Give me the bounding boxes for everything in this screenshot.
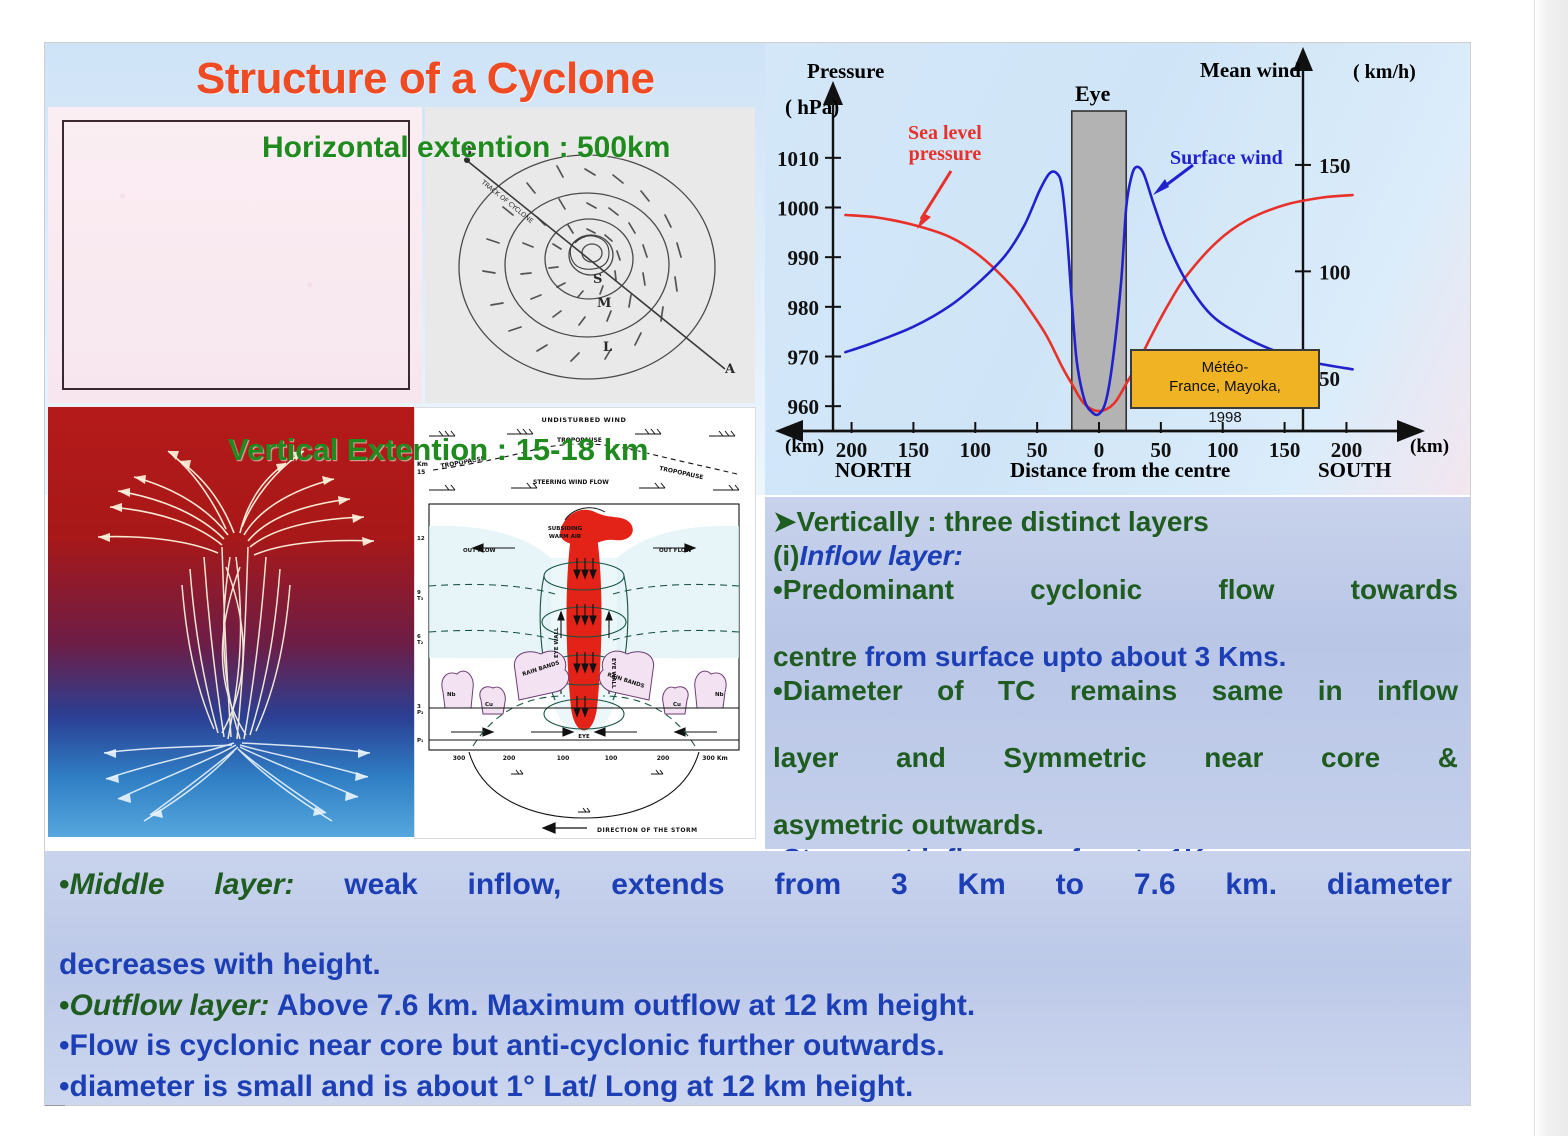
text-segment: decreases with height.	[59, 948, 381, 981]
x-axis-tick-label: 100	[960, 438, 992, 462]
svg-text:100: 100	[557, 755, 570, 762]
x-axis-unit-left: (km)	[785, 436, 824, 458]
annotation-line2: pressure	[908, 144, 982, 165]
text-line: decreases with height.	[59, 945, 1452, 985]
svg-text:EYE WALL: EYE WALL	[554, 627, 560, 658]
svg-text:S: S	[593, 272, 602, 287]
left-axis-tick-label: 960	[788, 395, 820, 419]
slide-canvas: PURIHYDERABAD MACHILIPATNAMBLAIR MadrasB…	[0, 0, 1568, 1136]
svg-text:200: 200	[503, 755, 516, 762]
text-segment: •	[59, 989, 70, 1022]
text-segment: Inflow layer:	[799, 540, 962, 571]
svg-text:Cu: Cu	[673, 702, 681, 708]
panel-edge-line	[1534, 0, 1535, 1136]
surface-wind-annotation: Surface wind	[1170, 147, 1283, 170]
svg-text:L: L	[603, 340, 612, 355]
text-segment: Vertically : three distinct layers	[796, 506, 1208, 537]
text-line: •Flow is cyclonic near core but anti-cyc…	[59, 1026, 1452, 1066]
text-segment: Above 7.6 km. Maximum outflow at 12 km h…	[270, 989, 976, 1022]
text-line: •Middle layer: weak inflow, extends from…	[59, 865, 1452, 944]
svg-text:EYE: EYE	[578, 734, 590, 740]
left-axis-tick-label: 980	[788, 296, 820, 320]
chart-left-axis-title: Pressure	[807, 59, 884, 84]
chart-left-axis-unit: ( hPa)	[785, 95, 839, 120]
svg-text:SUBSIDING: SUBSIDING	[548, 526, 583, 532]
eye-label: Eye	[1075, 81, 1110, 107]
text-segment: weak inflow, extends from 3 Km to 7.6 km…	[294, 868, 1452, 901]
svg-text:P₁: P₁	[417, 738, 424, 744]
left-axis-tick-label: 1000	[777, 197, 819, 221]
text-line: •diameter is small and is about 1° Lat/ …	[59, 1067, 1452, 1107]
text-line: centre from surface upto about 3 Kms.	[773, 640, 1458, 673]
text-segment: Outflow layer:	[70, 989, 270, 1022]
chart-plot-area: 1010100099098097096015010050200150100500…	[765, 43, 1470, 495]
page-title: Structure of a Cyclone	[196, 54, 796, 104]
source-line-3: 1998	[1130, 409, 1320, 426]
sea-level-pressure-annotation: Sea levelpressure	[908, 123, 982, 165]
svg-text:DIRECTION OF THE STORM: DIRECTION OF THE STORM	[597, 827, 698, 834]
text-segment: •Predominant cyclonic flow towards	[773, 574, 1458, 605]
svg-text:Nb: Nb	[447, 692, 456, 698]
svg-text:WARM AIR: WARM AIR	[549, 534, 582, 540]
text-line: layer and Symmetric near core &	[773, 741, 1458, 807]
text-segment: •Diameter of TC remains same in inflow	[773, 675, 1458, 706]
middle-outflow-layer-text-block: •Middle layer: weak inflow, extends from…	[45, 851, 1470, 1105]
chart-right-axis-unit: ( km/h)	[1353, 61, 1416, 84]
svg-text:EYE WALL: EYE WALL	[610, 658, 616, 689]
panel-edge-strip	[1534, 0, 1568, 1136]
x-axis-side-south: SOUTH	[1318, 458, 1392, 483]
text-segment: •	[59, 868, 70, 901]
svg-text:UNDISTURBED WIND: UNDISTURBED WIND	[541, 416, 626, 424]
x-axis-tick-label: 150	[1269, 438, 1301, 462]
source-box: Météo- France, Mayoka,	[1130, 349, 1320, 409]
svg-text:12: 12	[417, 536, 425, 542]
left-axis-tick-label: 1010	[777, 147, 819, 171]
text-segment: ➤	[773, 506, 796, 537]
sea-level-pressure-arrow	[921, 171, 951, 219]
inflow-layer-text-block: ➤Vertically : three distinct layers(i)In…	[765, 497, 1470, 849]
annotation-line1: Sea level	[908, 123, 982, 144]
svg-text:T₂: T₂	[417, 640, 424, 646]
svg-text:Cu: Cu	[485, 702, 493, 708]
svg-text:P₂: P₂	[417, 710, 424, 716]
text-segment: layer and Symmetric near core &	[773, 742, 1458, 773]
text-segment: from surface upto about 3 Kms.	[865, 641, 1287, 672]
svg-text:15: 15	[417, 469, 425, 476]
cyclone-3d-airflow-render	[48, 407, 414, 837]
text-line: asymetric outwards.	[773, 808, 1458, 841]
x-axis-unit-right: (km)	[1410, 436, 1449, 458]
text-line: ➤Vertically : three distinct layers	[773, 505, 1458, 538]
cross-section-artwork: UNDISTURBED WIND TROPOPAUSE TROPOPAUSE T…	[415, 408, 753, 836]
svg-text:Nb: Nb	[715, 692, 724, 698]
left-axis-tick-label: 970	[788, 346, 820, 370]
pressure-wind-chart: 1010100099098097096015010050200150100500…	[765, 43, 1470, 495]
text-segment: asymetric outwards.	[773, 809, 1044, 840]
caption-vertical-extention: Vertical Extention : 15-18 km	[228, 432, 648, 468]
svg-text:200: 200	[657, 755, 670, 762]
svg-text:M: M	[597, 296, 611, 311]
svg-text:OUT FLOW: OUT FLOW	[463, 548, 496, 554]
text-segment: Middle layer:	[70, 868, 295, 901]
text-segment: •diameter is small and is about 1° Lat/ …	[59, 1070, 913, 1103]
svg-text:OUT FLOW: OUT FLOW	[659, 548, 692, 554]
caption-horizontal-extention: Horizontal extention : 500km	[262, 131, 670, 165]
svg-text:T₃: T₃	[417, 596, 424, 602]
x-axis-title: Distance from the centre	[1010, 458, 1230, 483]
x-axis-side-north: NORTH	[835, 458, 911, 483]
text-line: (i)Inflow layer:	[773, 539, 1458, 572]
svg-text:STEERING WIND FLOW: STEERING WIND FLOW	[533, 479, 609, 486]
text-line: •Predominant cyclonic flow towards	[773, 573, 1458, 639]
svg-text:300 Km: 300 Km	[702, 755, 728, 762]
text-segment: •Flow is cyclonic near core but anti-cyc…	[59, 1029, 945, 1062]
text-segment: (i)	[773, 540, 799, 571]
svg-text:100: 100	[605, 755, 618, 762]
text-line: •Diameter of TC remains same in inflow	[773, 674, 1458, 740]
svg-text:A: A	[724, 362, 736, 377]
text-segment: centre	[773, 641, 865, 672]
source-line-2: France, Mayoka,	[1132, 378, 1318, 397]
surface-wind-arrowhead	[1153, 179, 1169, 195]
source-line-1: Météo-	[1132, 359, 1318, 378]
right-axis-tick-label: 150	[1319, 154, 1351, 178]
cyclone-vertical-cross-section: UNDISTURBED WIND TROPOPAUSE TROPOPAUSE T…	[414, 407, 756, 839]
text-line: •Outflow layer: Above 7.6 km. Maximum ou…	[59, 986, 1452, 1026]
right-axis-tick-label: 50	[1319, 367, 1340, 391]
airflow-streamlines	[48, 407, 414, 837]
left-axis-tick-label: 990	[788, 246, 820, 270]
right-axis-tick-label: 100	[1319, 260, 1351, 284]
svg-text:300: 300	[453, 755, 466, 762]
chart-right-axis-title: Mean wind	[1200, 58, 1301, 83]
